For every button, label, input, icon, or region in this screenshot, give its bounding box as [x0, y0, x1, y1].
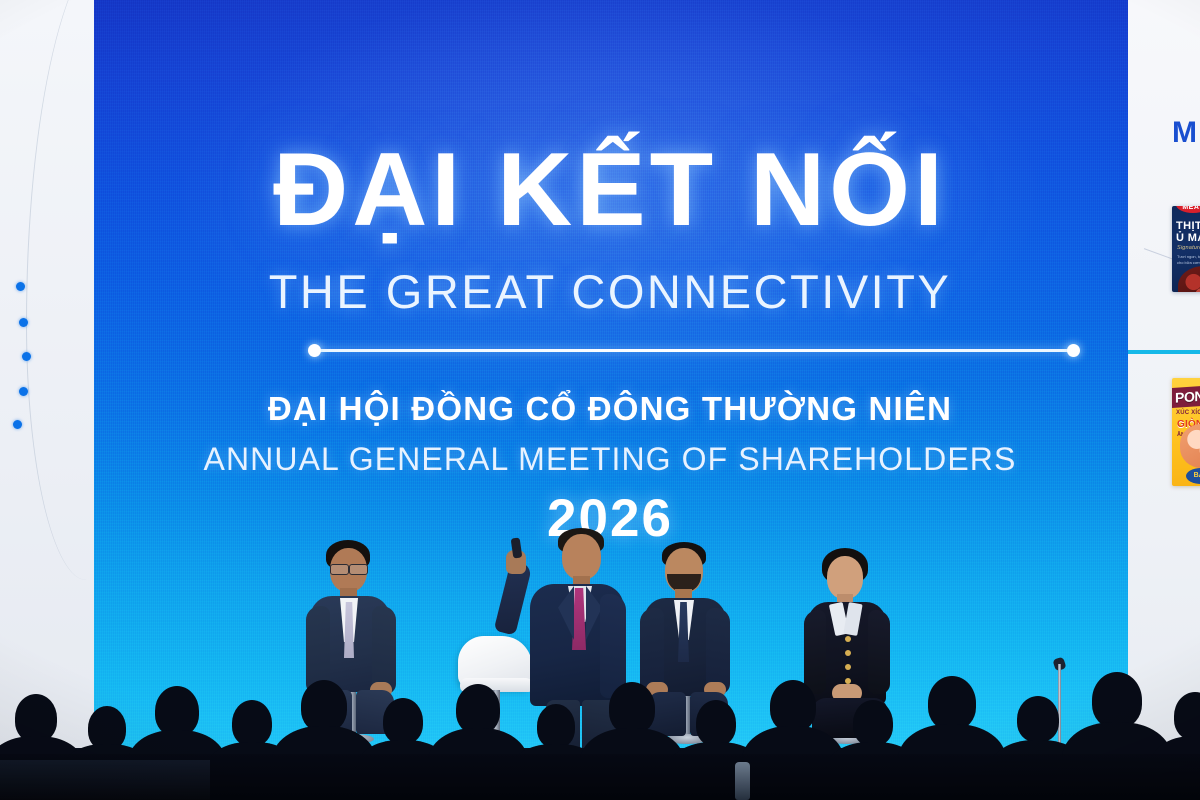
meat-pack-body-text: Tươi ngon, tự nhiên cho bữa cơm gia đình: [1177, 254, 1200, 265]
skirt-lap: [812, 698, 888, 738]
person-panelist-1: [300, 540, 410, 730]
person-panelist-2: [636, 542, 744, 732]
blue-dot-icon: [22, 352, 31, 361]
ponnie-food-photo: [1180, 424, 1200, 468]
arm-left: [804, 610, 826, 694]
chair-post: [492, 690, 500, 750]
divider-dot-left-icon: [308, 344, 321, 357]
product-pack-meat: MEAT THỊT Ủ MÁT Signature Tươi ngon, tự …: [1172, 206, 1200, 292]
presentation-clicker: [511, 537, 523, 558]
meat-pack-line1: THỊT: [1176, 220, 1200, 232]
glasses-right-lens: [349, 564, 368, 575]
glasses-left-lens: [330, 564, 349, 575]
agm-stage-photo: ĐẠI KẾT NỐI THE GREAT CONNECTIVITY ĐẠI H…: [0, 0, 1200, 800]
blue-dot-icon: [16, 282, 25, 291]
leg-right: [582, 700, 616, 754]
blue-dot-icon: [19, 387, 28, 396]
slide-divider: [314, 349, 1074, 352]
left-wall-panel: [0, 0, 94, 752]
leg-left: [314, 690, 352, 734]
leg-left: [546, 700, 580, 754]
meat-food-photo: [1178, 266, 1200, 292]
head: [827, 556, 863, 599]
gold-button: [845, 664, 851, 670]
meat-pack-line2: Ủ MÁT: [1176, 232, 1200, 244]
blue-dot-icon: [19, 318, 28, 327]
slide-event-name-english: ANNUAL GENERAL MEETING OF SHAREHOLDERS: [92, 443, 1128, 475]
arm-right: [868, 610, 890, 694]
slide-title-main: ĐẠI KẾT NỐI: [92, 138, 1128, 242]
leg-right: [690, 692, 728, 736]
person-speaker: [500, 528, 630, 750]
divider-dot-right-icon: [1067, 344, 1080, 357]
leg-right: [356, 690, 394, 734]
stool-base: [332, 734, 374, 744]
slide-title-sub: THE GREAT CONNECTIVITY: [92, 268, 1128, 315]
mic-stand-pole: [1058, 664, 1061, 760]
meat-brand-badge: MEAT: [1176, 206, 1200, 213]
head: [562, 534, 601, 580]
banner-brand-letter: M: [1172, 116, 1198, 150]
gold-button: [845, 650, 851, 656]
right-product-banner: M MEAT THỊT Ủ MÁT Signature Tươi ngon, t…: [1128, 0, 1200, 752]
banner-cyan-divider: [1128, 350, 1200, 354]
blue-dot-decoration: [0, 0, 94, 752]
slide-event-name-vietnamese: ĐẠI HỘI ĐỒNG CỔ ĐÔNG THƯỜNG NIÊN: [92, 392, 1128, 425]
arm-left: [306, 606, 330, 694]
blue-dot-icon: [13, 420, 22, 429]
product-pack-ponnie: PONNIE XÚC XÍCH GIÒN ĂN LIỀN BẮP: [1172, 378, 1200, 486]
ponnie-brand-name: PONNIE: [1175, 386, 1200, 406]
leg-left: [648, 692, 686, 736]
gold-button: [845, 636, 851, 642]
arm-right: [372, 606, 396, 694]
ponnie-badge: BẮP: [1186, 468, 1200, 484]
arm-right: [600, 594, 626, 698]
water-bottle: [735, 762, 750, 800]
person-panelist-3: [796, 548, 908, 736]
meat-pack-line3: Signature: [1177, 245, 1200, 251]
ponnie-line1: XÚC XÍCH: [1176, 410, 1200, 416]
foreground-table: [0, 760, 210, 800]
